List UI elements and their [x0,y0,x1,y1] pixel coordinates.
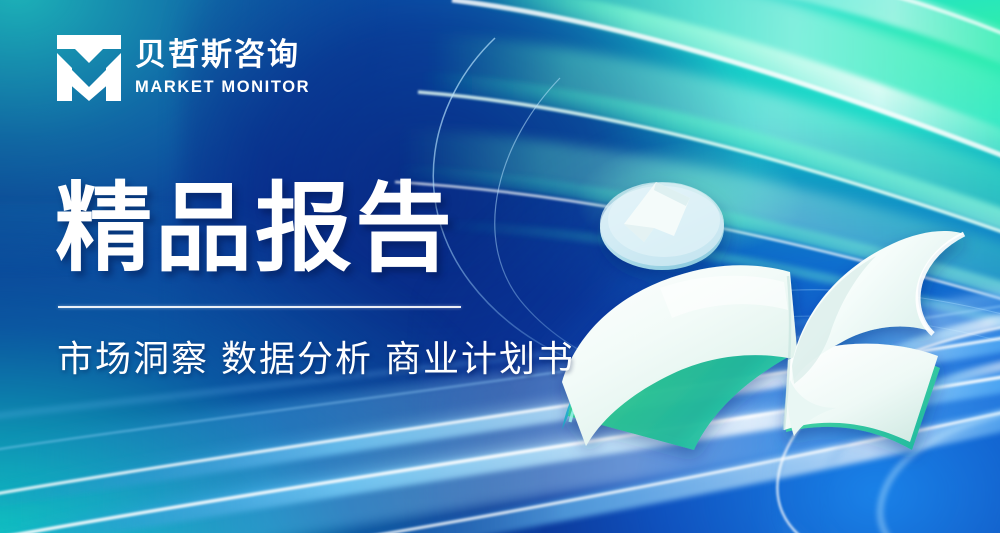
page-subtitle: 市场洞察 数据分析 商业计划书 [57,330,575,382]
open-book-illustration [540,150,970,450]
brand-name-en: MARKET MONITOR [135,78,310,98]
brand-name-cn: 贝哲斯咨询 [135,38,310,72]
report-banner: 贝哲斯咨询 MARKET MONITOR 精品报告 市场洞察 数据分析 商业计划… [0,0,1000,533]
brand-logo[interactable]: 贝哲斯咨询 MARKET MONITOR [57,35,310,101]
title-divider [58,306,461,308]
brand-logo-text: 贝哲斯咨询 MARKET MONITOR [135,38,310,98]
page-title: 精品报告 [55,178,455,281]
market-monitor-m-mark-icon [57,35,121,101]
